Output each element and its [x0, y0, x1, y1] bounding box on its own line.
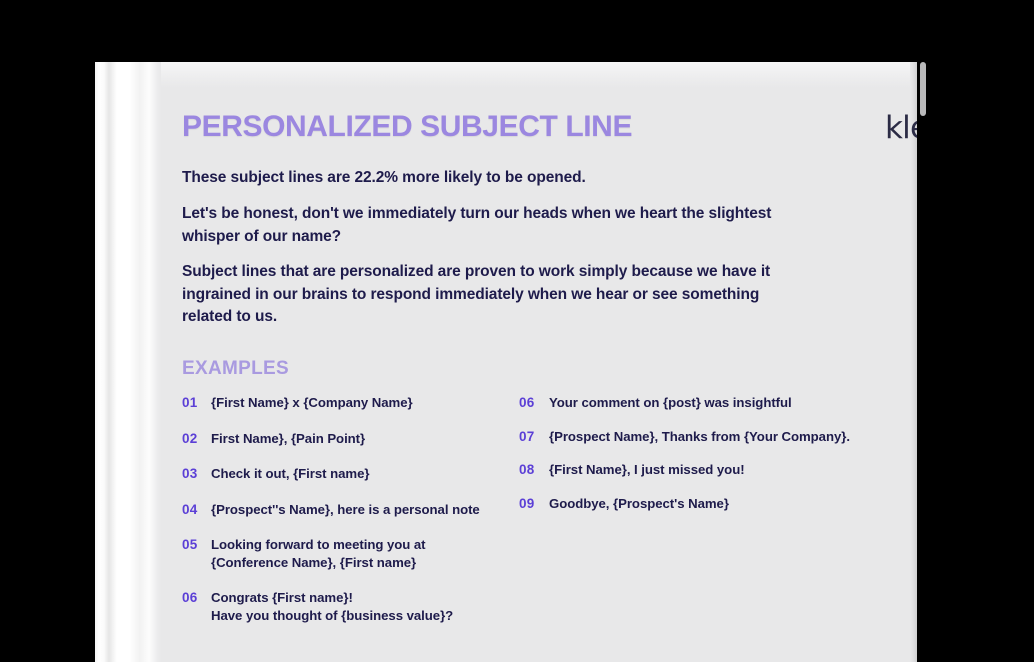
example-number: 04 — [182, 501, 211, 517]
page-scrollbar-thumb[interactable] — [920, 62, 926, 116]
example-text: Your comment on {post} was insightful — [549, 394, 859, 412]
page-title: PERSONALIZED SUBJECT LINE — [182, 110, 632, 144]
example-item: 09Goodbye, {Prospect's Name} — [519, 495, 859, 513]
example-text: {First Name} x {Company Name} — [211, 394, 512, 412]
example-text: {Prospect''s Name}, here is a personal n… — [211, 501, 512, 519]
example-item: 04{Prospect''s Name}, here is a personal… — [182, 501, 512, 519]
example-number: 03 — [182, 465, 211, 481]
example-text: Goodbye, {Prospect's Name} — [549, 495, 859, 513]
example-text: First Name}, {Pain Point} — [211, 430, 512, 448]
example-number: 06 — [519, 394, 549, 410]
example-item: 06Congrats {First name}! Have you though… — [182, 589, 512, 624]
page-right-edge — [910, 62, 917, 662]
example-number: 08 — [519, 461, 549, 477]
example-item: 08{First Name}, I just missed you! — [519, 461, 859, 479]
klenty-logo: klenty — [885, 104, 917, 152]
example-item: 06Your comment on {post} was insightful — [519, 394, 859, 412]
example-number: 07 — [519, 428, 549, 444]
example-item: 03Check it out, {First name} — [182, 465, 512, 483]
intro-paragraph-3: Subject lines that are personalized are … — [182, 261, 797, 329]
example-text: Congrats {First name}! Have you thought … — [211, 589, 512, 624]
intro-paragraph-2: Let's be honest, don't we immediately tu… — [182, 203, 797, 248]
examples-column-left: 01{First Name} x {Company Name}02First N… — [182, 394, 512, 642]
example-number: 01 — [182, 394, 211, 410]
examples-heading: EXAMPLES — [182, 358, 289, 380]
example-item: 07{Prospect Name}, Thanks from {Your Com… — [519, 428, 859, 446]
example-number: 09 — [519, 495, 549, 511]
page-spine-fold — [95, 62, 161, 662]
document-page: PERSONALIZED SUBJECT LINE klenty — [95, 62, 917, 662]
example-item: 02First Name}, {Pain Point} — [182, 430, 512, 448]
document-content: PERSONALIZED SUBJECT LINE klenty — [182, 62, 902, 662]
example-text: Check it out, {First name} — [211, 465, 512, 483]
example-text: Looking forward to meeting you at {Confe… — [211, 536, 512, 571]
examples-column-right: 06Your comment on {post} was insightful0… — [519, 394, 859, 528]
example-item: 01{First Name} x {Company Name} — [182, 394, 512, 412]
example-text: {Prospect Name}, Thanks from {Your Compa… — [549, 428, 859, 446]
example-item: 05Looking forward to meeting you at {Con… — [182, 536, 512, 571]
logo-wordmark: klenty — [885, 110, 917, 146]
example-text: {First Name}, I just missed you! — [549, 461, 859, 479]
example-number: 05 — [182, 536, 211, 552]
example-number: 06 — [182, 589, 211, 605]
intro-paragraph-1: These subject lines are 22.2% more likel… — [182, 167, 797, 190]
example-number: 02 — [182, 430, 211, 446]
